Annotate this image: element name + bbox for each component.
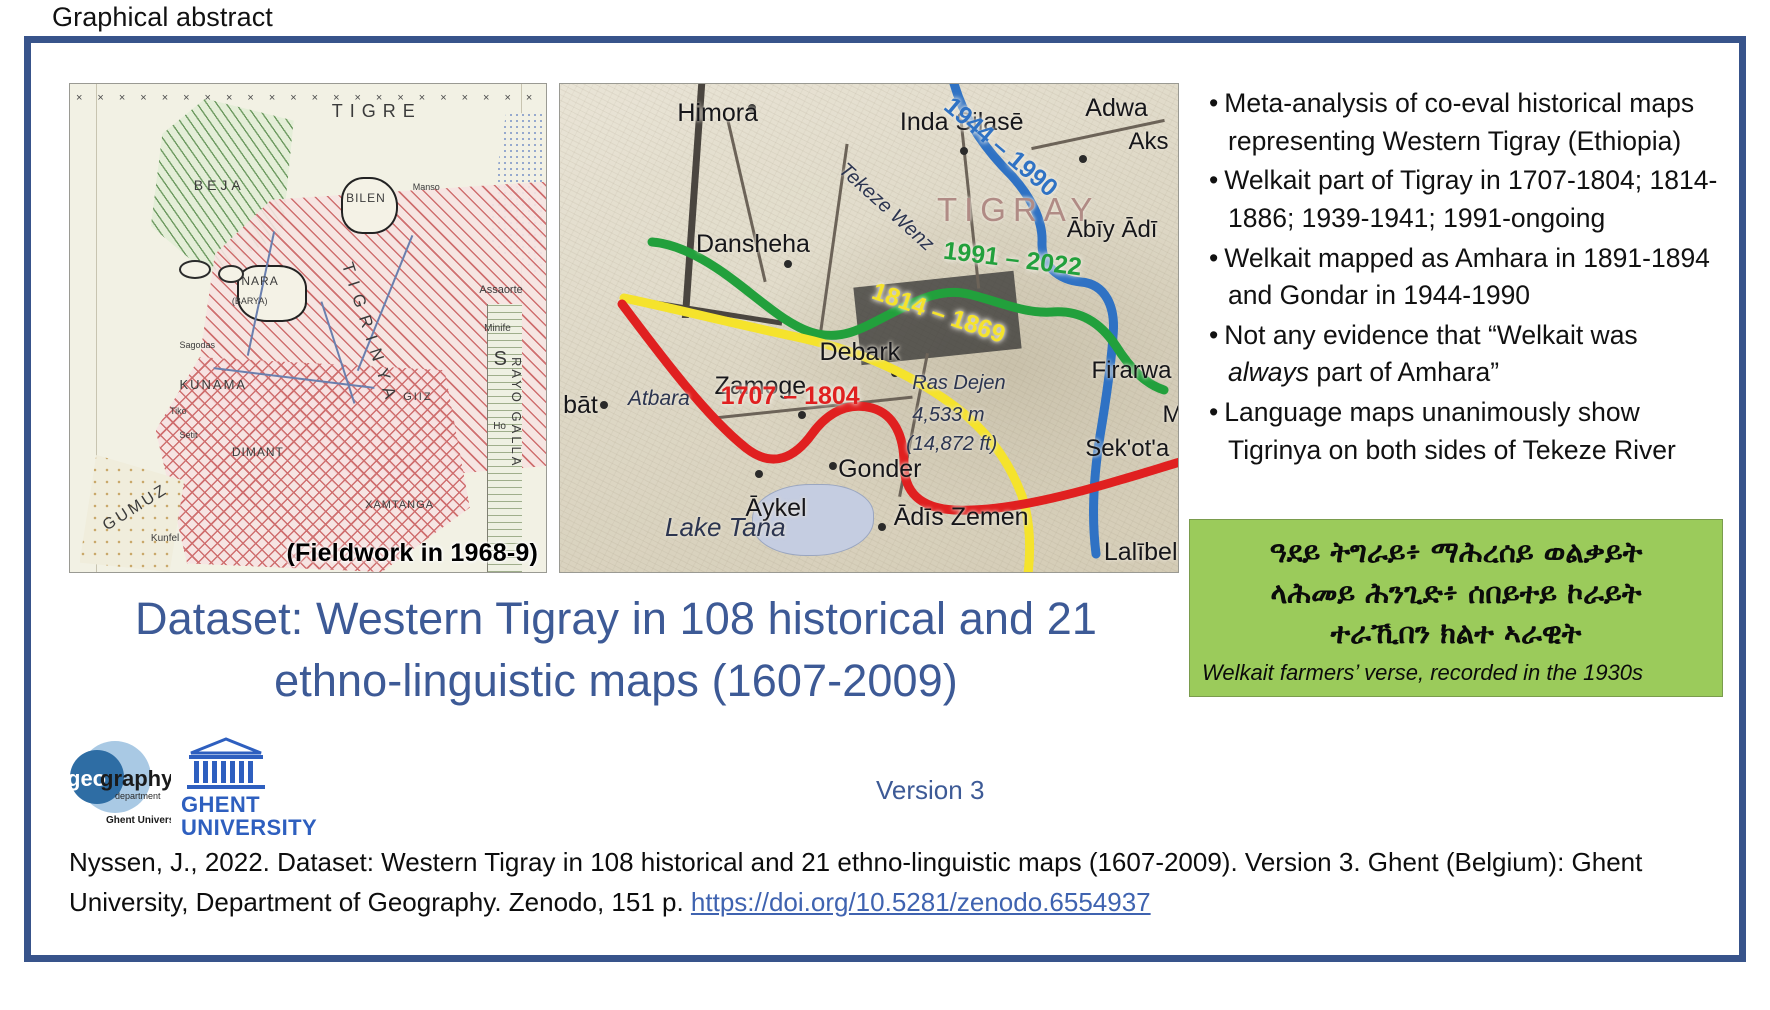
- bullet-icon: •: [1209, 88, 1224, 118]
- logo-row: geo graphy department Ghent University g…: [59, 735, 319, 835]
- key-point-item: •Welkait mapped as Amhara in 1891-1894 a…: [1209, 240, 1721, 315]
- svg-text:graphy: graphy: [100, 766, 171, 791]
- key-point-text: Welkait mapped as Amhara in 1891-1894 an…: [1224, 243, 1710, 311]
- page-title: Dataset: Western Tigray in 108 historica…: [61, 588, 1171, 712]
- ghent-university-logo: GHENT UNIVERSITY: [181, 737, 311, 835]
- place-label-himora: Himora: [677, 99, 758, 128]
- kunama-hatch: ×××××××××××××××××××××××××××××××××××: [76, 90, 540, 566]
- era-label-1707-1804: 1707 – 1804: [721, 382, 860, 411]
- verse-attribution: Welkait farmers’ verse, recorded in the …: [1202, 660, 1710, 686]
- place-label-gonder: Gonder: [838, 455, 921, 484]
- ethno-linguistic-map: ××××××××××××××××××××××××××××××××××× TIGR…: [69, 83, 547, 573]
- poster-frame: ××××××××××××××××××××××××××××××××××× TIGR…: [24, 36, 1746, 962]
- version-label: Version 3: [876, 775, 984, 806]
- verse-line-1: ዓደይ ትግራይ፥ ማሕረሰይ ወልቃይት: [1202, 532, 1710, 573]
- place-label-debark: Debark: [820, 338, 901, 367]
- elevation-feet: (14,872 ft): [906, 433, 997, 456]
- place-label-m: M: [1163, 401, 1179, 429]
- key-point-text: Welkait part of Tigray in 1707-1804; 181…: [1224, 165, 1717, 233]
- citation: Nyssen, J., 2022. Dataset: Western Tigra…: [69, 843, 1709, 922]
- key-point-text: Language maps unanimously show Tigrinya …: [1224, 397, 1676, 465]
- fieldwork-caption: (Fieldwork in 1968-9): [287, 539, 539, 568]
- region-kunama: ×××××××××××××××××××××××××××××××××××: [70, 84, 207, 234]
- geography-logo-graphic: geo graphy department Ghent University: [59, 739, 171, 831]
- place-label-bat: bāt: [563, 391, 598, 420]
- lake-label-tana: Lake Tana: [665, 513, 785, 542]
- graphical-abstract-label: Graphical abstract: [52, 2, 273, 33]
- page-title-line-2: ethno-linguistic maps (1607-2009): [61, 650, 1171, 712]
- key-points-list: •Meta-analysis of co-eval historical map…: [1209, 85, 1721, 471]
- citation-doi-link[interactable]: https://doi.org/10.5281/zenodo.6554937: [691, 887, 1151, 917]
- place-dot-aykel: [755, 470, 763, 478]
- page-title-line-1: Dataset: Western Tigray in 108 historica…: [61, 588, 1171, 650]
- svg-text:department: department: [115, 791, 161, 801]
- place-label-dansheha: Dansheha: [696, 230, 810, 259]
- place-label-adwa: Adwa: [1085, 94, 1148, 123]
- place-label-lalibela: Lalībela: [1104, 538, 1179, 567]
- key-point-text-post: part of Amhara”: [1309, 357, 1499, 387]
- geography-department-logo: geo graphy department Ghent University g…: [59, 739, 171, 831]
- bullet-icon: •: [1209, 165, 1224, 195]
- small-enclave-b: [218, 265, 244, 283]
- place-dot-adwa: [1079, 155, 1087, 163]
- bullet-icon: •: [1209, 397, 1224, 427]
- place-label-sekota: Sek'ot'a: [1085, 435, 1169, 463]
- bullet-icon: •: [1209, 243, 1224, 273]
- place-dot-dansheha: [784, 260, 792, 268]
- key-point-text-emphasis: always: [1228, 357, 1309, 387]
- historical-borders-map: Tekeze Wenz TIGRAY Himora Inda Silasē Ad…: [559, 83, 1179, 573]
- key-point-item: •Welkait part of Tigray in 1707-1804; 18…: [1209, 162, 1721, 237]
- place-label-abiy-adi: Ābīy Ādī: [1067, 216, 1158, 244]
- svg-text:Ghent University: Ghent University: [106, 815, 171, 826]
- ghent-logo-line-1: GHENT: [181, 793, 311, 816]
- key-point-item: •Language maps unanimously show Tigrinya…: [1209, 394, 1721, 469]
- bullet-icon: •: [1209, 320, 1224, 350]
- river-label-atbara: Atbara: [628, 387, 690, 411]
- elevation-meters: 4,533 m: [912, 404, 984, 427]
- place-label-aks: Aks: [1129, 128, 1169, 156]
- verse-box: ዓደይ ትግራይ፥ ማሕረሰይ ወልቃይት ላሕመይ ሕንጊድ፥ ሰበይተይ ኮ…: [1189, 519, 1723, 697]
- ghent-pediment-icon: [181, 737, 311, 791]
- place-label-adis-zemen: Ādīs Zemen: [894, 504, 1029, 530]
- place-dot-gonder: [829, 462, 837, 470]
- verse-line-3: ተራኺበን ክልተ ኣራዊት: [1202, 613, 1710, 654]
- verse-line-2: ላሕመይ ሕንጊድ፥ ሰበይተይ ኮራይት: [1202, 573, 1710, 614]
- place-label-firarwa: Firarwa: [1091, 357, 1171, 385]
- place-dot-zamoge: [798, 411, 806, 419]
- key-point-item: •Meta-analysis of co-eval historical map…: [1209, 85, 1721, 160]
- ghent-logo-line-2: UNIVERSITY: [181, 816, 311, 839]
- region-nara: [237, 265, 308, 323]
- key-point-item: •Not any evidence that “Welkait was alwa…: [1209, 317, 1721, 392]
- small-enclave-a: [179, 260, 211, 279]
- region-bilen: [341, 177, 397, 235]
- key-point-text: Meta-analysis of co-eval historical maps…: [1224, 88, 1694, 156]
- strip-rayo-galla: [487, 304, 522, 572]
- key-point-text-pre: Not any evidence that “Welkait was: [1224, 320, 1637, 350]
- place-label-ras-dejen: Ras Dejen: [912, 372, 1005, 395]
